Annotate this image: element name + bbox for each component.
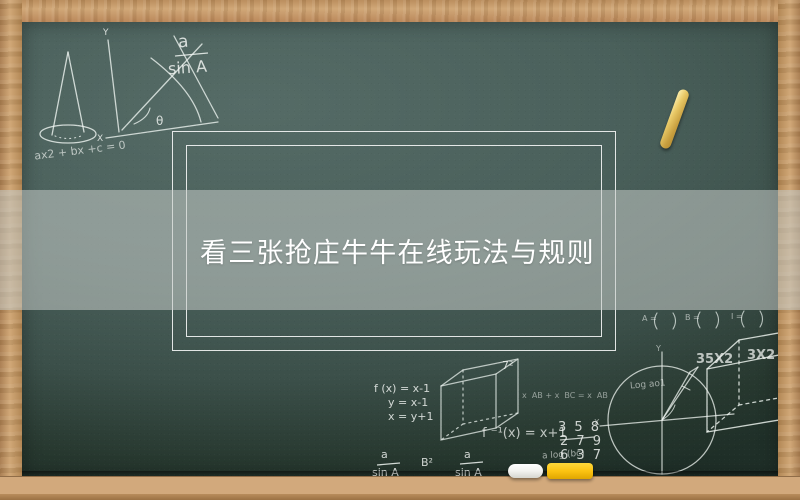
ledge-lip xyxy=(0,494,800,500)
frame-top xyxy=(0,0,800,22)
page-root: a sin A Y X θ ax2 + bx +c = 0 f (x) = x-… xyxy=(0,0,800,500)
unit-circle-diagram xyxy=(600,352,734,474)
chalk-stick-white-ledge[interactable] xyxy=(508,464,543,478)
chalk-stick-yellow-ledge[interactable] xyxy=(547,463,593,479)
angle-axes-diagram xyxy=(106,36,218,138)
page-title: 看三张抢庄牛牛在线玩法与规则 xyxy=(0,190,800,310)
matrix-brackets xyxy=(655,311,763,329)
cube-wireframe-right xyxy=(707,327,778,432)
cube-wireframe-left xyxy=(441,359,518,440)
cone-diagram xyxy=(40,52,96,143)
arithmetic-rule xyxy=(560,437,594,440)
